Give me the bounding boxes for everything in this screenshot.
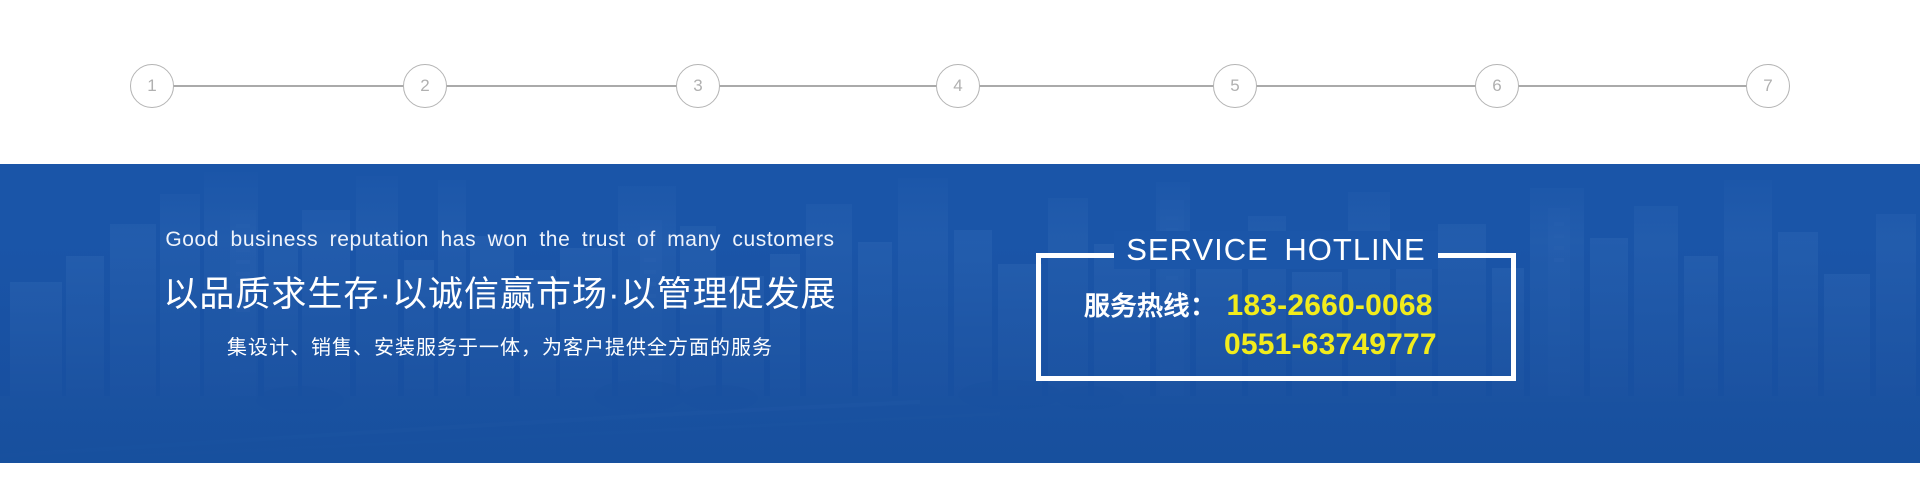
slogan-chinese-main: 以品质求生存·以诚信赢市场·以管理促发展 (0, 266, 1000, 317)
step-pagination: 1 2 3 4 5 6 7 (0, 0, 1920, 164)
step-node-7[interactable]: 7 (1746, 64, 1790, 108)
hotline-number-list: 服务热线： 183-2660-0068 服务热线： 0551-63749777 (1036, 286, 1516, 364)
step-node-4[interactable]: 4 (936, 64, 980, 108)
step-node-1[interactable]: 1 (130, 64, 174, 108)
slogan-english: Good business reputation has won the tru… (0, 228, 1000, 252)
step-node-2[interactable]: 2 (403, 64, 447, 108)
step-node-5[interactable]: 5 (1213, 64, 1257, 108)
step-node-6[interactable]: 6 (1475, 64, 1519, 108)
hotline-row-primary: 服务热线： 183-2660-0068 (1036, 286, 1516, 325)
hotline-number-secondary[interactable]: 0551-63749777 (1224, 328, 1437, 362)
page-root: 1 2 3 4 5 6 7 (0, 0, 1920, 500)
hotline-row-secondary: 服务热线： 0551-63749777 (1036, 325, 1516, 364)
hotline-label: 服务热线： (1084, 286, 1217, 323)
service-hotline-box: SERVICE HOTLINE 服务热线： 183-2660-0068 服务热线… (1036, 253, 1516, 381)
step-node-3[interactable]: 3 (676, 64, 720, 108)
slogan-chinese-sub: 集设计、销售、安装服务于一体，为客户提供全方面的服务 (0, 331, 1000, 360)
blue-banner: Good business reputation has won the tru… (0, 164, 1920, 463)
hotline-number-primary[interactable]: 183-2660-0068 (1227, 289, 1433, 323)
slogan-block: Good business reputation has won the tru… (0, 228, 1000, 360)
